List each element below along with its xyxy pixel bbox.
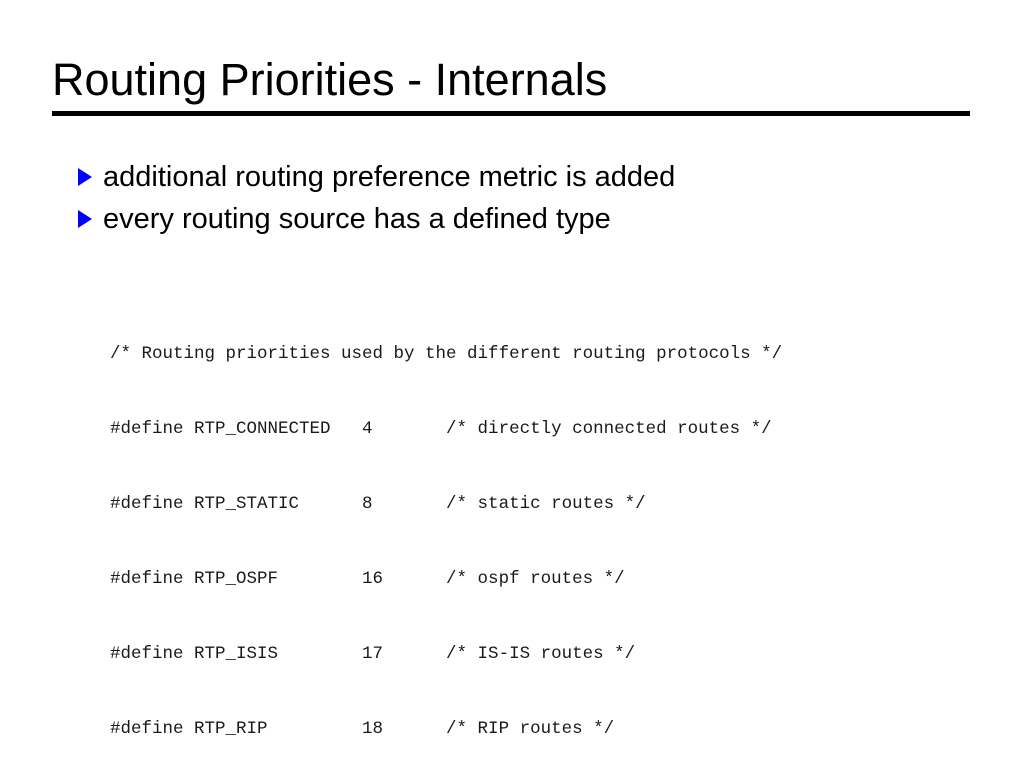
triangle-right-icon <box>78 210 92 228</box>
code-line: /* Routing priorities used by the differ… <box>110 342 803 367</box>
title-block: Routing Priorities - Internals <box>52 52 972 108</box>
bullet-list: additional routing preference metric is … <box>78 156 958 240</box>
bullet-text: every routing source has a defined type <box>103 198 611 240</box>
page-title: Routing Priorities - Internals <box>52 52 972 108</box>
code-line: #define RTP_STATIC 8 /* static routes */ <box>110 492 803 517</box>
code-line: #define RTP_OSPF 16 /* ospf routes */ <box>110 567 803 592</box>
code-line: #define RTP_CONNECTED 4 /* directly conn… <box>110 417 803 442</box>
code-block: /* Routing priorities used by the differ… <box>110 292 803 768</box>
list-item: every routing source has a defined type <box>78 198 958 240</box>
code-line: #define RTP_ISIS 17 /* IS-IS routes */ <box>110 642 803 667</box>
triangle-right-icon <box>78 168 92 186</box>
list-item: additional routing preference metric is … <box>78 156 958 198</box>
bullet-text: additional routing preference metric is … <box>103 156 675 198</box>
code-line: #define RTP_RIP 18 /* RIP routes */ <box>110 717 803 742</box>
title-underline-rule <box>52 111 970 116</box>
presentation-slide: Routing Priorities - Internals additiona… <box>0 0 1024 768</box>
